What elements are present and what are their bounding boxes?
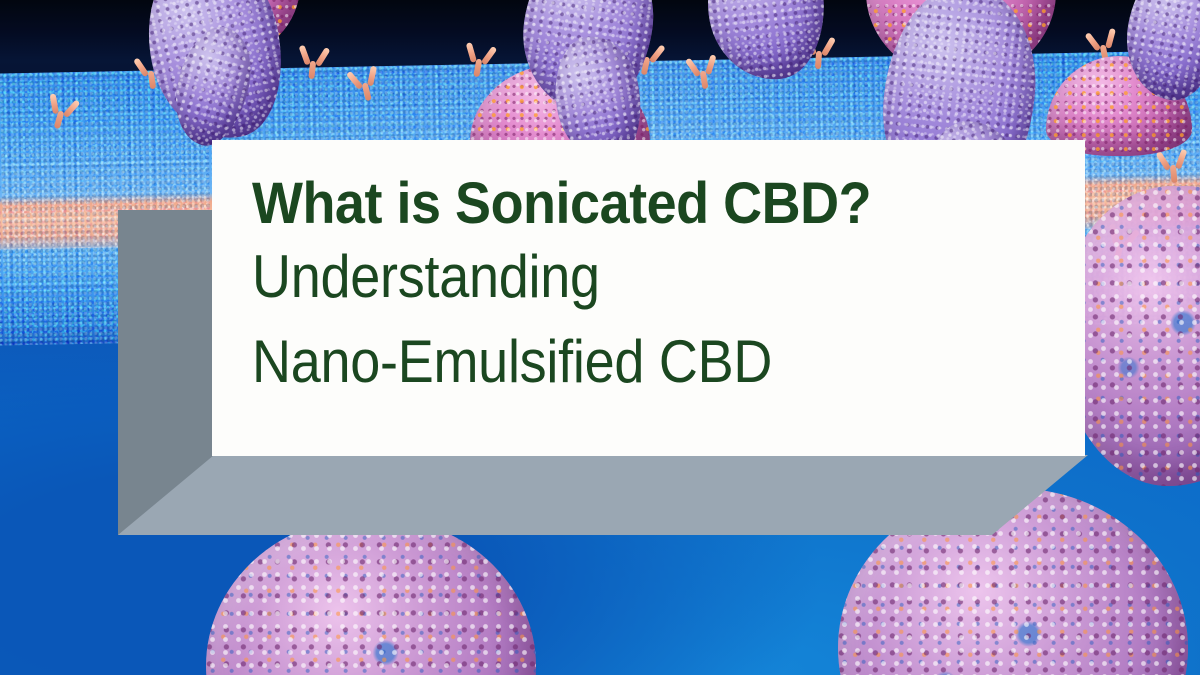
title-card-3d: What is Sonicated CBD? Understanding Nan… (0, 0, 1200, 675)
slide-canvas: What is Sonicated CBD? Understanding Nan… (0, 0, 1200, 675)
page-title: What is Sonicated CBD? (252, 174, 1027, 234)
subtitle-line-1: Understanding (252, 234, 1002, 319)
subtitle-line-2: Nano-Emulsified CBD (252, 319, 1002, 404)
title-card-front: What is Sonicated CBD? Understanding Nan… (212, 140, 1085, 456)
card-bottom-face (118, 455, 1088, 535)
